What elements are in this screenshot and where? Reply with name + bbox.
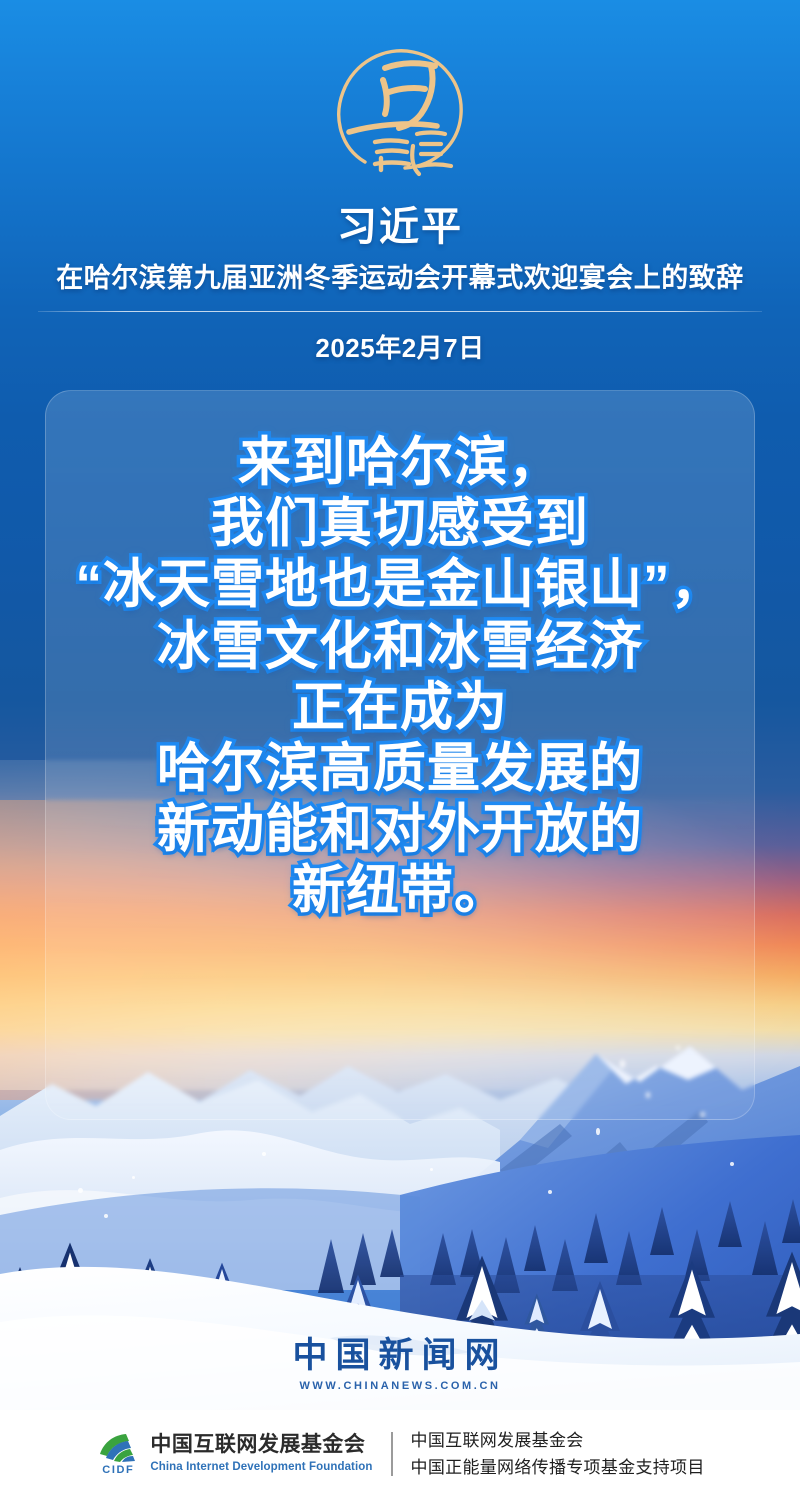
footer-content: CIDF 中国互联网发展基金会 China Internet Developme…: [95, 1430, 704, 1478]
footer-note-line: 中国互联网发展基金会: [411, 1430, 705, 1451]
seal-icon: [325, 34, 475, 184]
quote-line: 新纽带。: [30, 860, 770, 921]
cidf-logo-block: CIDF 中国互联网发展基金会 China Internet Developme…: [95, 1432, 372, 1476]
cidf-mark: CIDF: [95, 1432, 141, 1476]
poster-canvas: 习近平 在哈尔滨第九届亚洲冬季运动会开幕式欢迎宴会上的致辞 2025年2月7日 …: [0, 0, 800, 1498]
speech-date: 2025年2月7日: [0, 328, 800, 365]
cidf-name-en: China Internet Development Foundation: [150, 1460, 372, 1475]
footer-notes: 中国互联网发展基金会 中国正能量网络传播专项基金支持项目: [411, 1430, 705, 1478]
quote-line: 正在成为: [30, 677, 770, 738]
quote-line: 来到哈尔滨，: [30, 432, 770, 493]
xi-yan-dao-seal-logo: [325, 34, 475, 184]
header-divider: [38, 311, 762, 312]
chinanews-brand-cn: 中国新闻网: [0, 1338, 800, 1373]
quote-line: 新动能和对外开放的: [30, 799, 770, 860]
footer-bar: CIDF 中国互联网发展基金会 China Internet Developme…: [0, 1410, 800, 1498]
chinanews-url: WWW.CHINANEWS.COM.CN: [0, 1380, 800, 1392]
quote-line: 冰雪文化和冰雪经济: [30, 616, 770, 677]
chinanews-watermark: 中国新闻网 WWW.CHINANEWS.COM.CN: [0, 1338, 800, 1392]
quote-line: 哈尔滨高质量发展的: [30, 738, 770, 799]
footer-note-line: 中国正能量网络传播专项基金支持项目: [411, 1457, 705, 1478]
quote-block: 来到哈尔滨， 我们真切感受到 “冰天雪地也是金山银山”， 冰雪文化和冰雪经济 正…: [0, 432, 800, 922]
footer-divider: [391, 1432, 393, 1476]
quote-line: 我们真切感受到: [30, 493, 770, 554]
speaker-name: 习近平: [0, 205, 800, 250]
cidf-name-cn: 中国互联网发展基金会: [150, 1433, 372, 1457]
cidf-abbreviation: CIDF: [102, 1464, 134, 1476]
cidf-wifi-arc-icon: [96, 1432, 140, 1462]
speech-subtitle: 在哈尔滨第九届亚洲冬季运动会开幕式欢迎宴会上的致辞: [0, 262, 800, 294]
quote-line: “冰天雪地也是金山银山”，: [30, 554, 770, 615]
cidf-name-block: 中国互联网发展基金会 China Internet Development Fo…: [150, 1433, 372, 1474]
header-block: 习近平 在哈尔滨第九届亚洲冬季运动会开幕式欢迎宴会上的致辞 2025年2月7日: [0, 205, 800, 365]
